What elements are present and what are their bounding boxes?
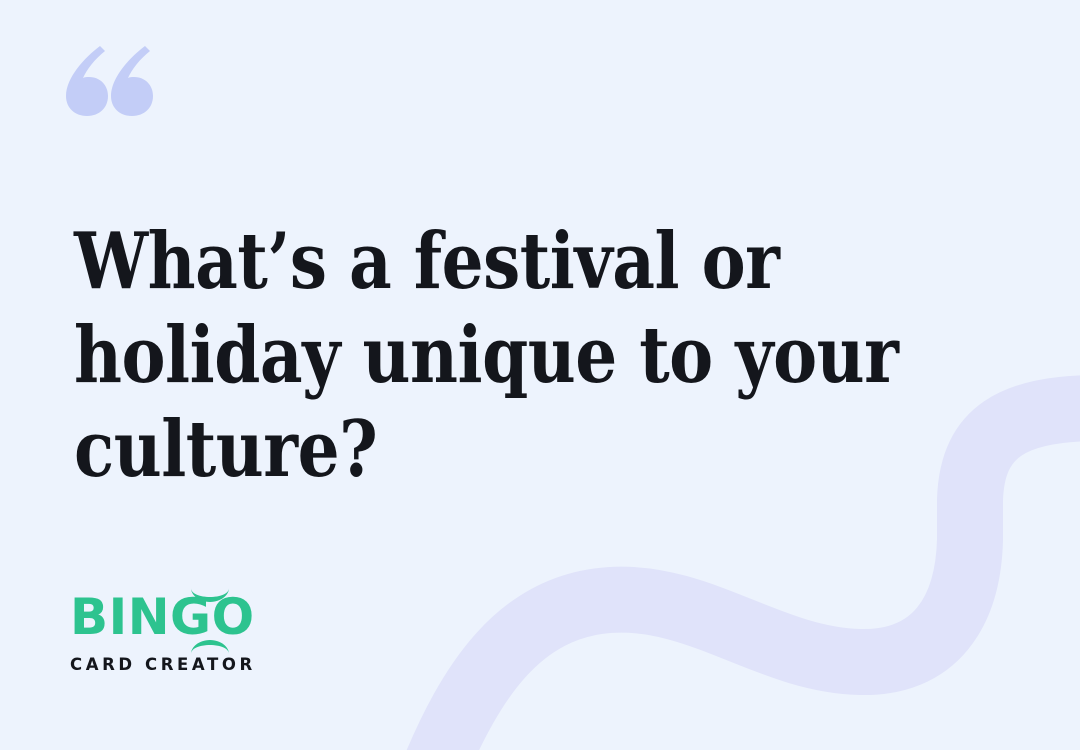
page-title: What’s a festival or holiday unique to y…: [74, 215, 920, 497]
quote-glyph-left: [66, 46, 108, 116]
quote-glyph-right: [111, 46, 153, 116]
logo[interactable]: BINGO CARD CREATOR: [70, 592, 270, 674]
heading-line-2: holiday unique to your: [74, 310, 898, 401]
arc-up-icon: [191, 640, 229, 654]
double-quote-icon: [60, 40, 160, 120]
logo-tagline: CARD CREATOR: [70, 655, 270, 674]
quote-card: What’s a festival or holiday unique to y…: [0, 0, 1080, 750]
arc-down-icon: [191, 588, 229, 602]
heading-line-3: culture?: [74, 404, 377, 495]
heading-line-1: What’s a festival or: [74, 216, 779, 307]
logo-wordmark: BINGO: [70, 592, 230, 646]
